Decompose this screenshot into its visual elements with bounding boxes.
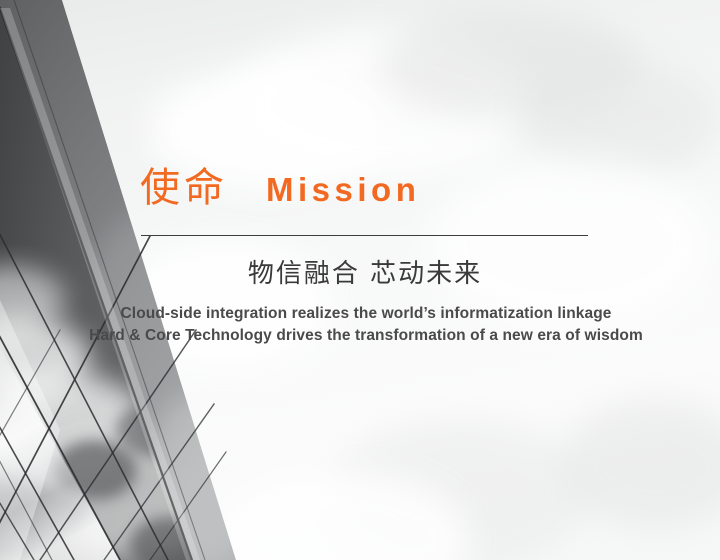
tagline-line-1: Cloud-side integration realizes the worl… [60,303,672,325]
banner-tagline: Cloud-side integration realizes the worl… [60,303,672,347]
title-divider-rule [141,235,588,236]
banner-title: 使命 Mission [140,168,590,208]
title-chinese: 使命 [140,168,228,208]
title-english: Mission [266,173,420,206]
banner-subtitle: 物信融合 芯动未来 [140,258,590,291]
mission-banner: 使命 Mission 物信融合 芯动未来 Cloud-side integrat… [0,0,720,560]
tagline-line-2: Hard & Core Technology drives the transf… [60,325,672,347]
